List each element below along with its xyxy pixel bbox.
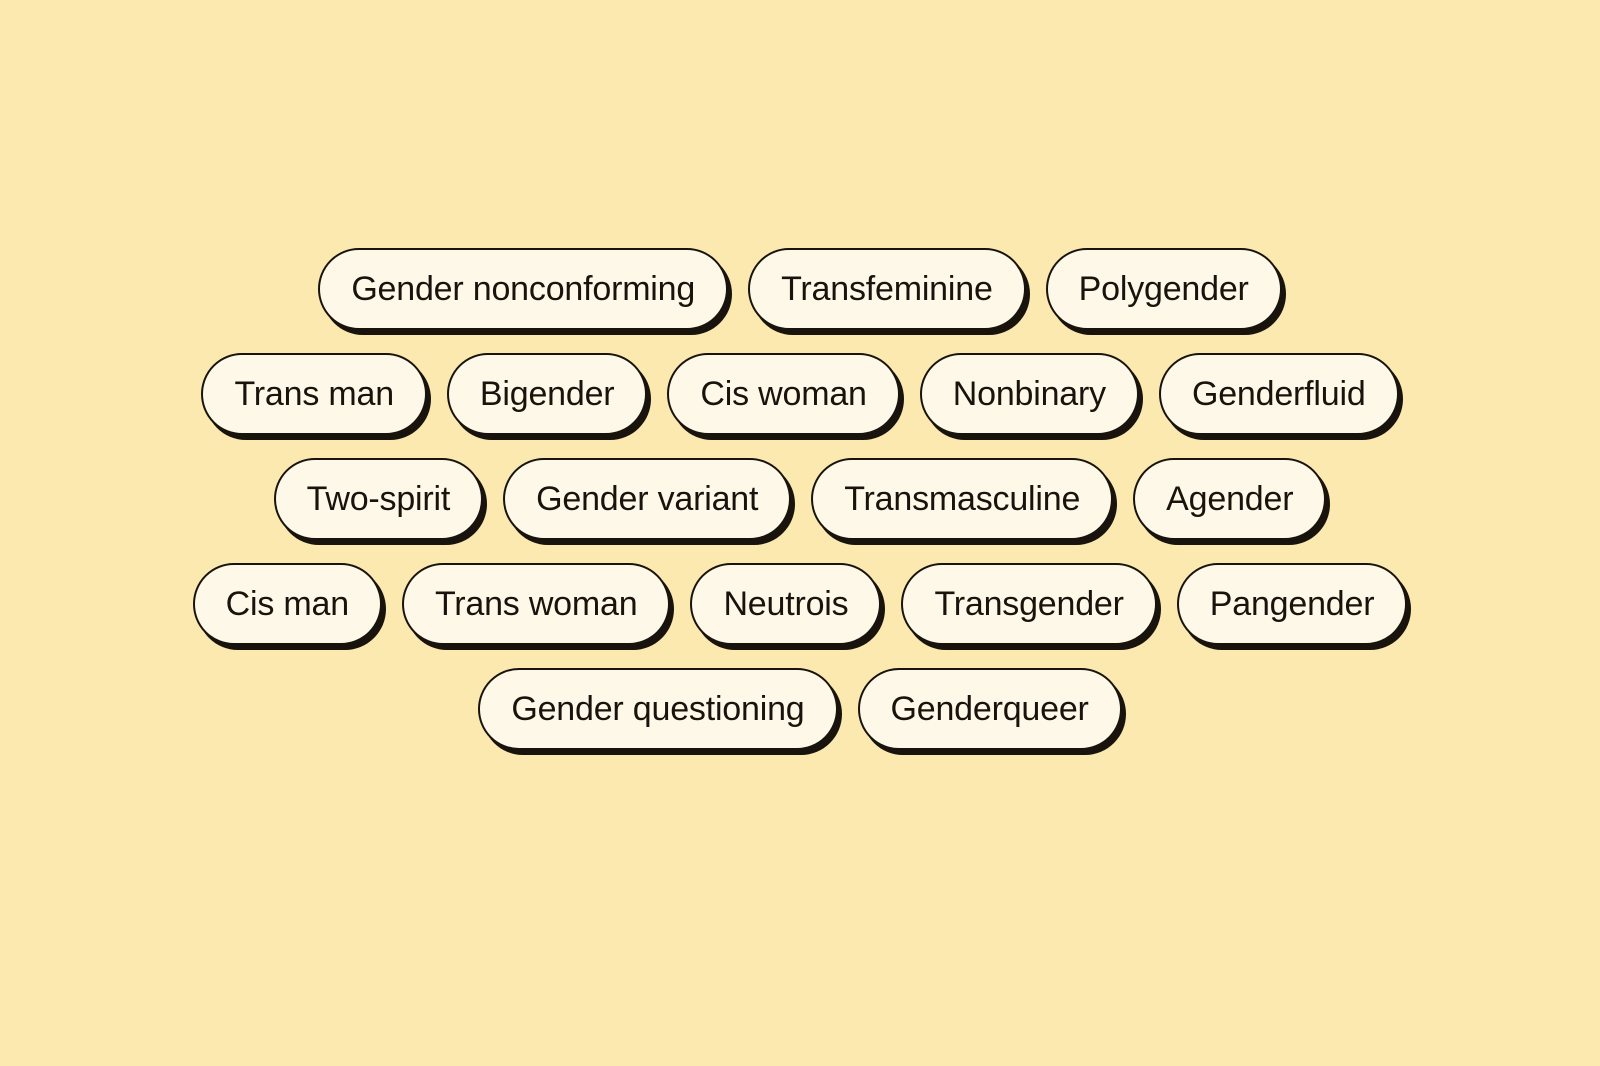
tag-row: Gender questioning Genderqueer [0,668,1600,750]
tag-label: Trans woman [435,587,638,621]
tag-row: Gender nonconforming Transfeminine Polyg… [0,248,1600,330]
tag-pill-cis-man[interactable]: Cis man [193,563,382,645]
tag-label: Nonbinary [953,377,1106,411]
tag-label: Transmasculine [844,482,1080,516]
tag-pill-pangender[interactable]: Pangender [1177,563,1408,645]
tag-pill-neutrois[interactable]: Neutrois [690,563,881,645]
tag-label: Gender questioning [511,692,804,726]
tag-row: Two-spirit Gender variant Transmasculine… [0,458,1600,540]
gender-identity-tag-cloud: Gender nonconforming Transfeminine Polyg… [0,0,1600,1066]
tag-pill-cis-woman[interactable]: Cis woman [667,353,899,435]
tag-pill-bigender[interactable]: Bigender [447,353,648,435]
tag-label: Trans man [234,377,393,411]
tag-pill-transfeminine[interactable]: Transfeminine [748,248,1026,330]
tag-label: Gender variant [536,482,758,516]
tag-label: Bigender [480,377,615,411]
tag-label: Transfeminine [781,272,993,306]
tag-label: Cis man [226,587,349,621]
tag-label: Agender [1166,482,1293,516]
tag-label: Two-spirit [307,482,450,516]
tag-row: Trans man Bigender Cis woman Nonbinary G… [0,353,1600,435]
tag-pill-two-spirit[interactable]: Two-spirit [274,458,483,540]
tag-pill-gender-questioning[interactable]: Gender questioning [478,668,837,750]
tag-row: Cis man Trans woman Neutrois Transgender… [0,563,1600,645]
tag-pill-transgender[interactable]: Transgender [901,563,1156,645]
tag-label: Genderfluid [1192,377,1366,411]
tag-pill-trans-woman[interactable]: Trans woman [402,563,671,645]
tag-label: Neutrois [723,587,848,621]
tag-pill-trans-man[interactable]: Trans man [201,353,426,435]
tag-label: Gender nonconforming [351,272,695,306]
tag-label: Cis woman [700,377,866,411]
tag-label: Polygender [1079,272,1249,306]
tag-pill-genderfluid[interactable]: Genderfluid [1159,353,1399,435]
tag-pill-gender-nonconforming[interactable]: Gender nonconforming [318,248,728,330]
tag-label: Genderqueer [891,692,1089,726]
tag-pill-nonbinary[interactable]: Nonbinary [920,353,1139,435]
tag-pill-gender-variant[interactable]: Gender variant [503,458,791,540]
tag-pill-agender[interactable]: Agender [1133,458,1326,540]
tag-pill-polygender[interactable]: Polygender [1046,248,1282,330]
tag-label: Transgender [934,587,1123,621]
tag-pill-genderqueer[interactable]: Genderqueer [858,668,1122,750]
tag-label: Pangender [1210,587,1375,621]
tag-pill-transmasculine[interactable]: Transmasculine [811,458,1113,540]
